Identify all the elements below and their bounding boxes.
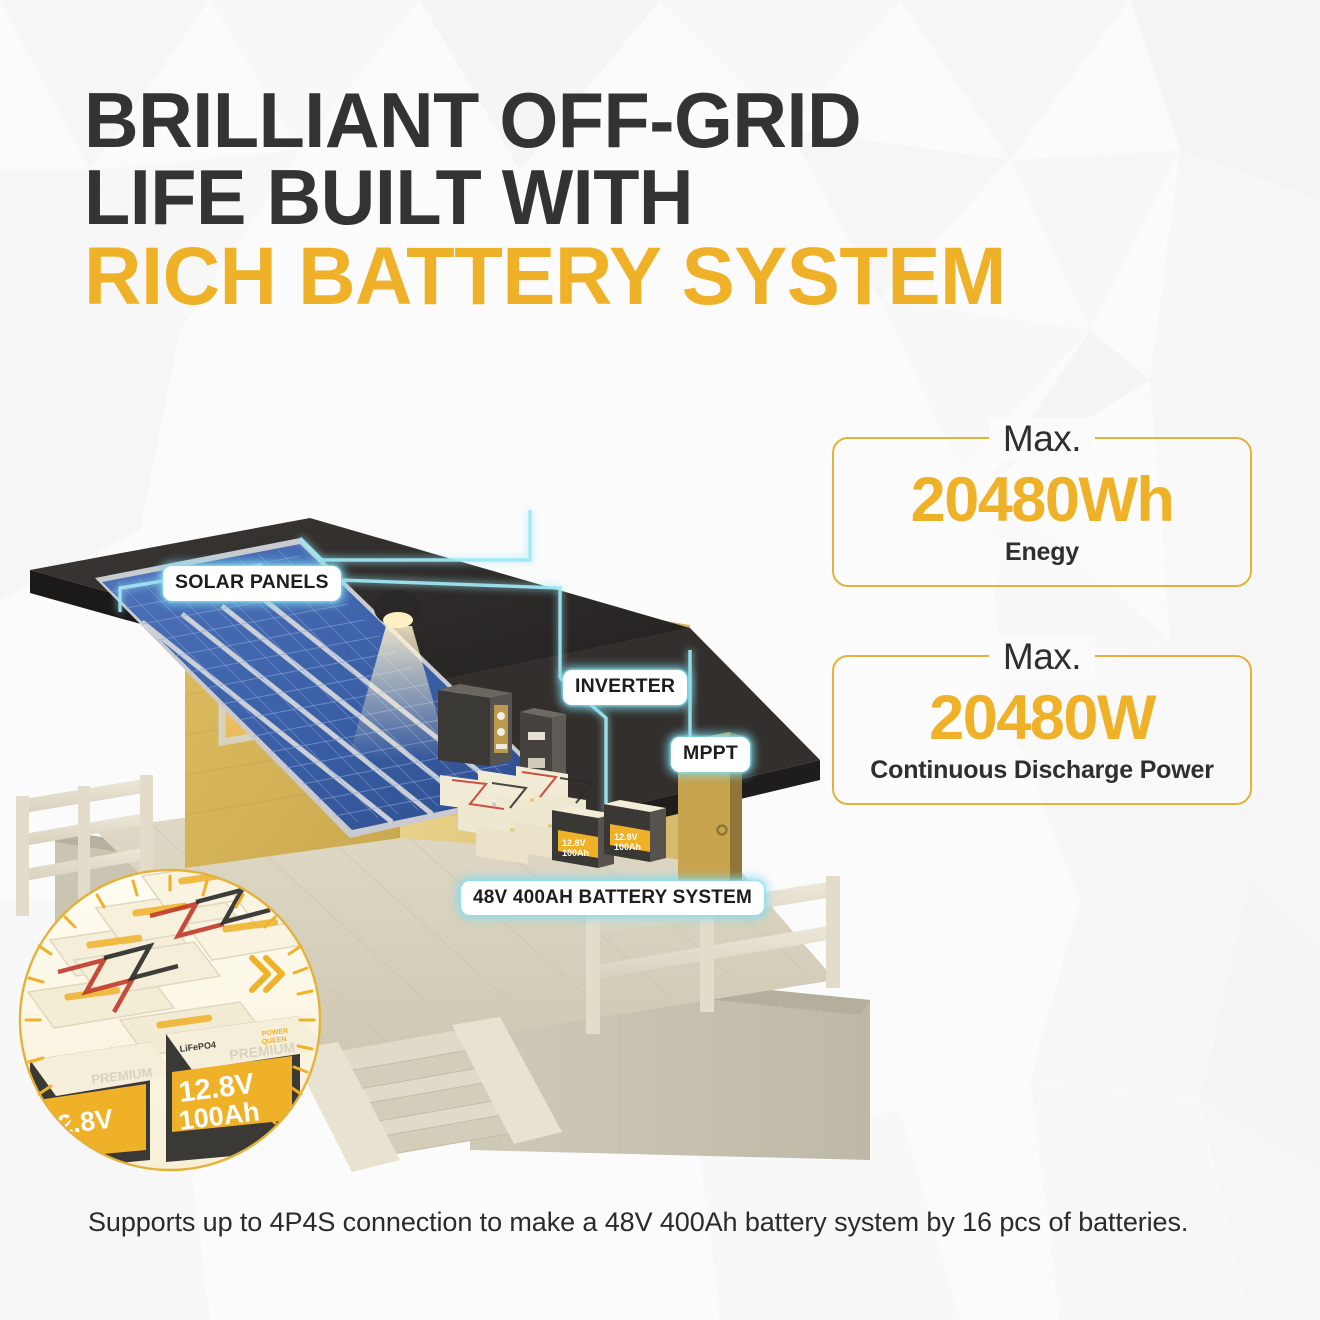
off-grid-house-illustration: 12.8V 100Ah 12.8V 100Ah (0, 360, 880, 1200)
svg-text:100Ah: 100Ah (562, 848, 589, 858)
svg-text:12.8V: 12.8V (562, 838, 586, 848)
stat-value-power: 20480W (929, 683, 1155, 753)
stat-label-energy: Enegy (1005, 537, 1079, 567)
headline-line-2: LIFE BUILT WITH (84, 159, 1229, 236)
stat-prefix-power: Max. (989, 636, 1095, 678)
stat-card-power: Max. 20480W Continuous Discharge Power (832, 655, 1252, 805)
stat-value-energy: 20480Wh (911, 465, 1174, 535)
bottom-caption: Supports up to 4P4S connection to make a… (88, 1204, 1258, 1240)
headline-block: BRILLIANT OFF-GRID LIFE BUILT WITH RICH … (84, 82, 1264, 318)
svg-text:100Ah: 100Ah (614, 842, 641, 852)
stat-label-power: Continuous Discharge Power (870, 755, 1213, 785)
headline-line-3: RICH BATTERY SYSTEM (84, 236, 1229, 317)
callout-battery-system[interactable]: 48V 400AH BATTERY SYSTEM (461, 881, 764, 915)
callout-mppt[interactable]: MPPT (671, 737, 750, 772)
stat-card-energy: Max. 20480Wh Enegy (832, 437, 1252, 587)
stat-prefix-energy: Max. (989, 418, 1095, 460)
callout-inverter[interactable]: INVERTER (563, 670, 687, 705)
svg-text:12.8V: 12.8V (614, 832, 638, 842)
inverter-unit (438, 684, 512, 766)
headline-line-1: BRILLIANT OFF-GRID (84, 82, 1229, 159)
callout-solar-panels[interactable]: SOLAR PANELS (163, 566, 341, 601)
